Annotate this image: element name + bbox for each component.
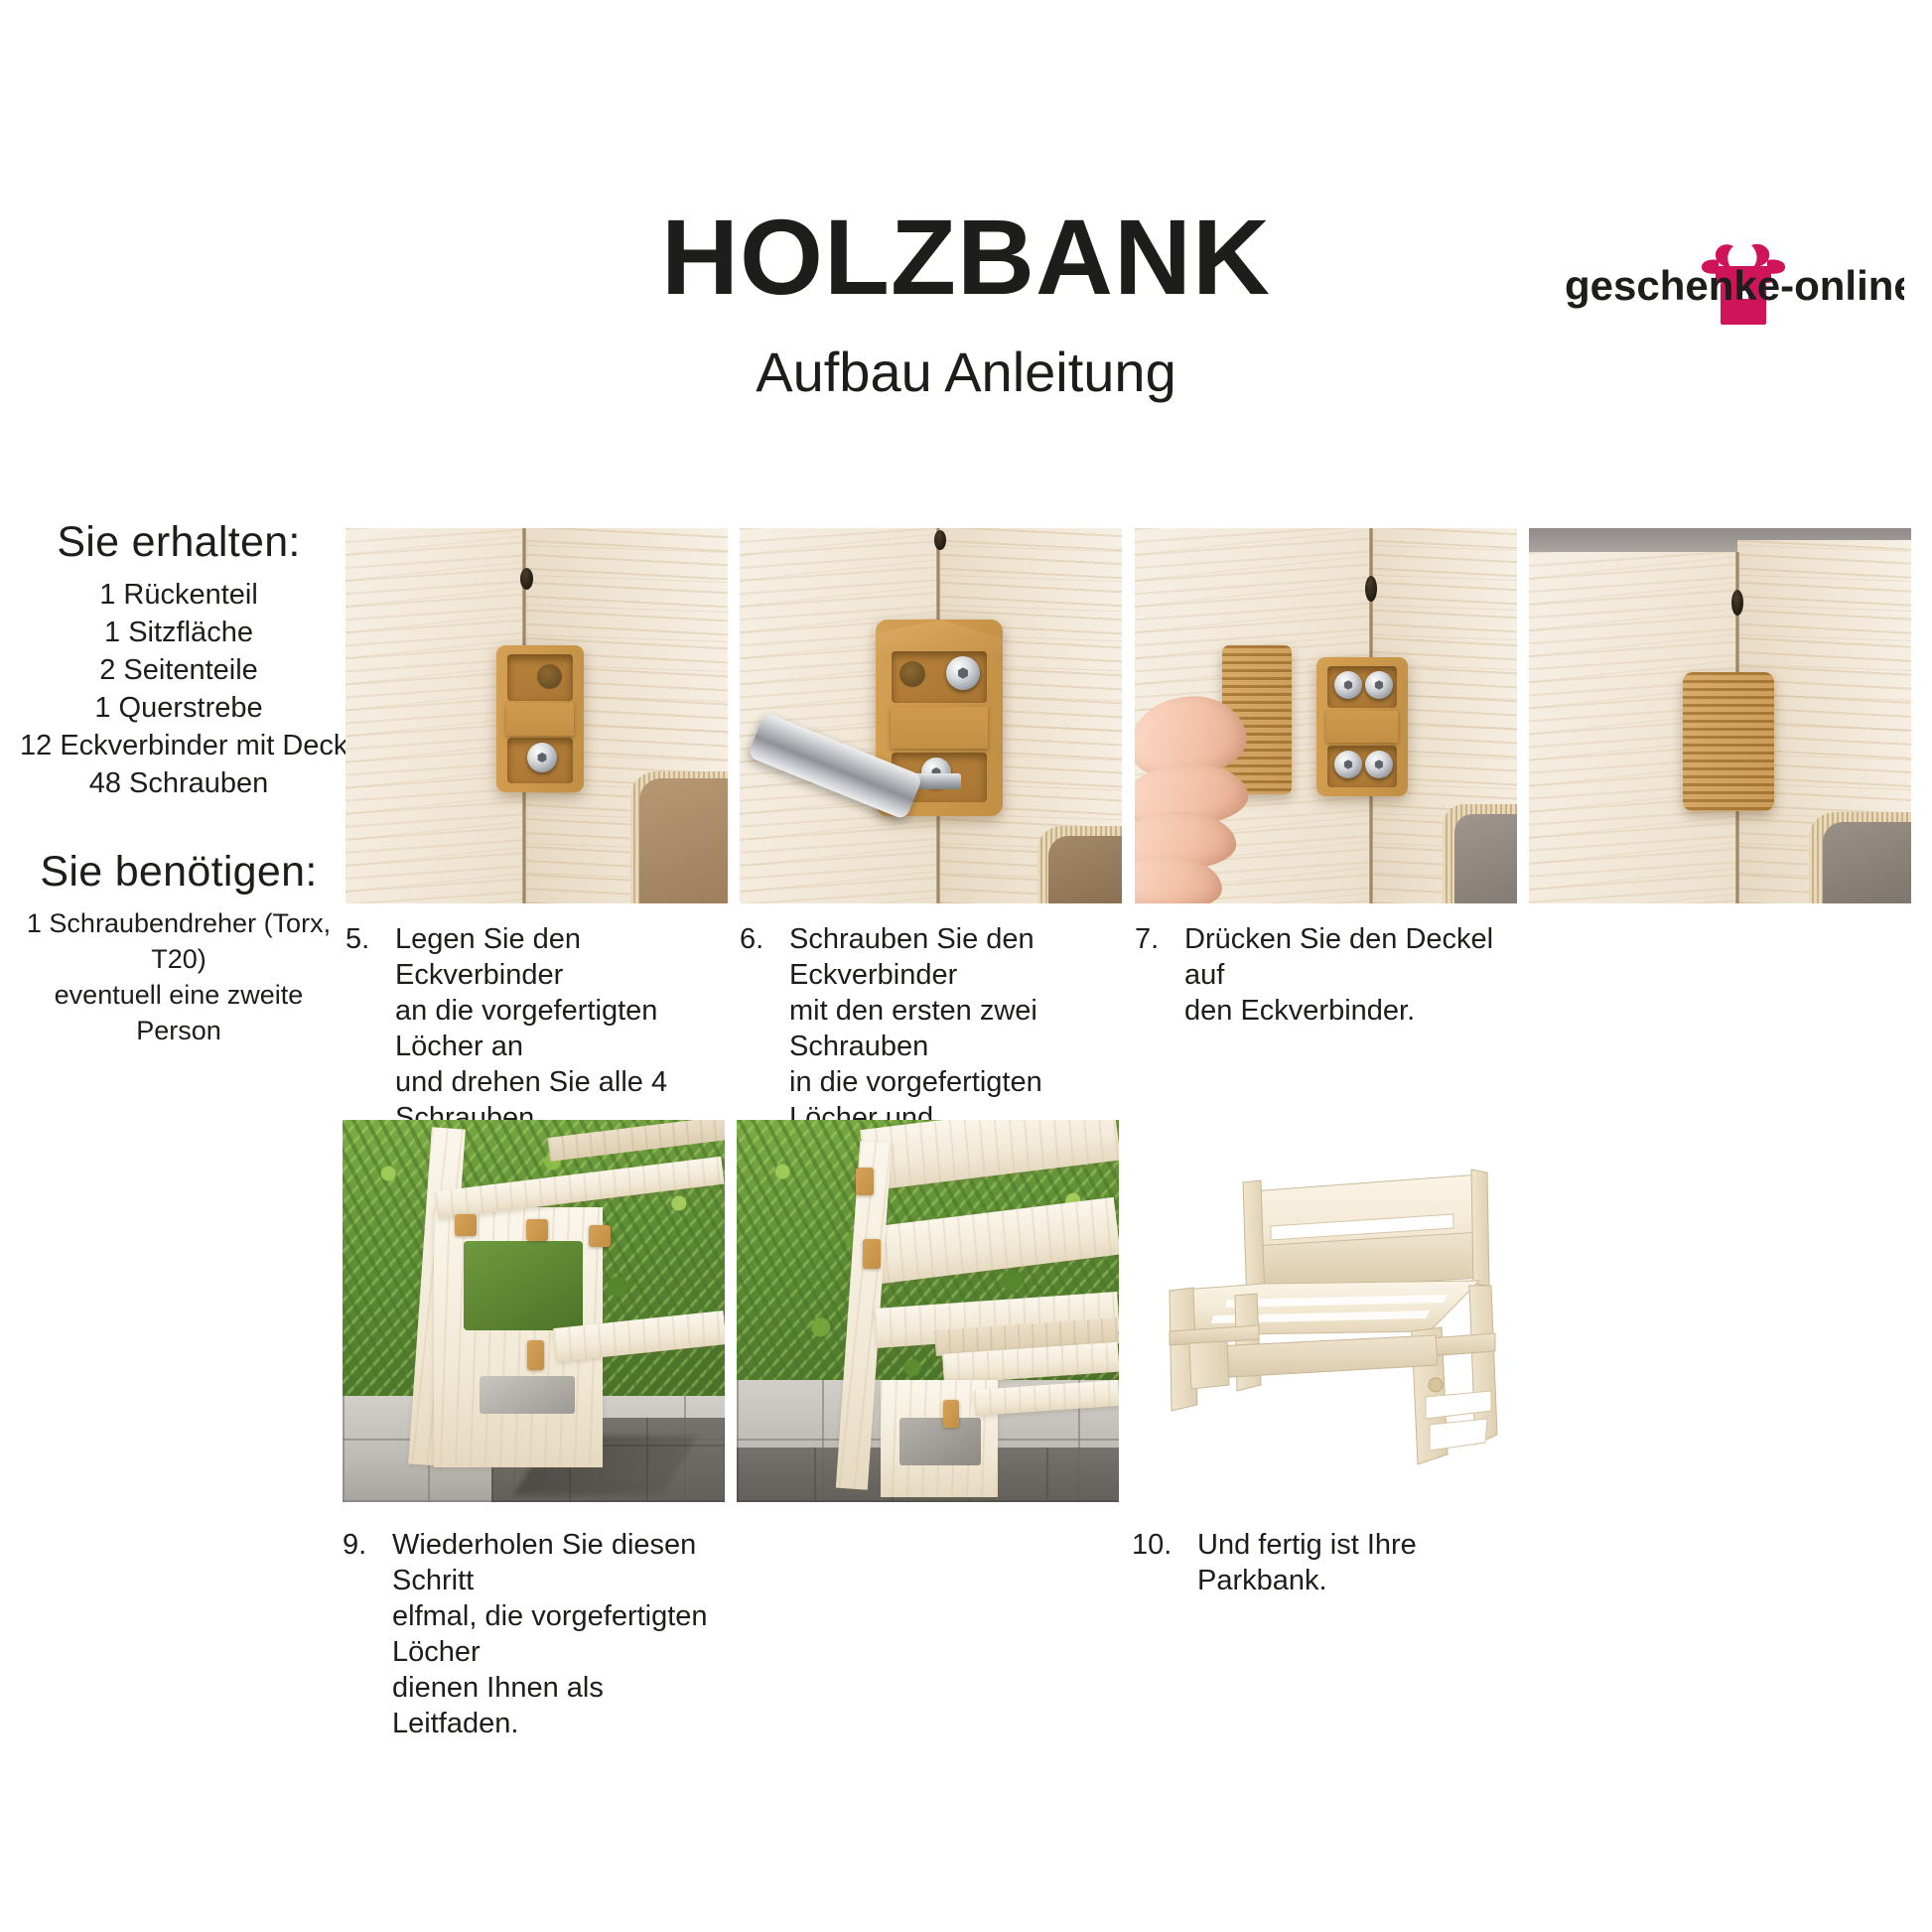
screw-head xyxy=(946,656,980,690)
corner-connector xyxy=(496,645,584,792)
screw-head xyxy=(1365,671,1393,699)
step-line: elfmal, die vorgefertigten Löcher xyxy=(392,1598,738,1670)
step-number: 5. xyxy=(345,921,395,957)
connector-tab xyxy=(526,1219,548,1241)
predrilled-hole xyxy=(934,530,946,550)
step-line: Drücken Sie den Deckel auf xyxy=(1184,921,1515,993)
screw-head xyxy=(527,743,557,772)
photo-step-9 xyxy=(343,1120,725,1502)
finished-bench-illustration xyxy=(1132,1137,1529,1499)
screw-hole xyxy=(899,661,925,687)
required-heading: Sie benötigen: xyxy=(20,846,338,897)
bench-seat xyxy=(1170,1281,1479,1335)
caption-step-10: 10.Und fertig ist Ihre Parkbank. xyxy=(1132,1527,1529,1598)
connector-tab xyxy=(863,1239,881,1269)
step-line: den Eckverbinder. xyxy=(1184,993,1515,1029)
included-item: 1 Querstrebe xyxy=(20,689,338,727)
screw-head xyxy=(1334,751,1362,778)
photo-step-7 xyxy=(1135,528,1517,903)
brand-logo-text: geschenke-online.de xyxy=(1565,262,1904,309)
step-number: 7. xyxy=(1135,921,1184,957)
connector-cover-cap-installed xyxy=(1683,672,1774,811)
connector-tab xyxy=(455,1214,477,1236)
included-item: 1 Rückenteil xyxy=(20,576,338,614)
step-line: Legen Sie den Eckverbinder xyxy=(395,921,719,993)
connector-tab xyxy=(527,1340,544,1370)
connector-bridge xyxy=(891,707,988,749)
included-item: 12 Eckverbinder mit Deckel xyxy=(20,727,338,764)
photo-step-10 xyxy=(1132,1137,1529,1499)
parts-panel: Sie erhalten: 1 Rückenteil 1 Sitzfläche … xyxy=(20,516,338,1048)
photo-step-9b xyxy=(737,1120,1119,1502)
brand-logo[interactable]: geschenke-online.de xyxy=(1557,238,1904,328)
connector-tab xyxy=(943,1400,959,1428)
brace-end-left xyxy=(1189,1341,1229,1389)
connector-tab xyxy=(589,1225,611,1247)
included-heading: Sie erhalten: xyxy=(20,516,338,568)
included-list: 1 Rückenteil 1 Sitzfläche 2 Seitenteile … xyxy=(20,576,338,802)
backrest-upright-right xyxy=(1471,1170,1489,1286)
cutout-shadow xyxy=(1048,836,1122,903)
included-item: 48 Schrauben xyxy=(20,764,338,802)
photo-step-6 xyxy=(740,528,1122,903)
spacer xyxy=(20,802,338,846)
step-line: Und fertig ist Ihre Parkbank. xyxy=(1197,1527,1527,1598)
connector-bridge xyxy=(506,703,574,736)
step-number: 6. xyxy=(740,921,789,957)
photo-step-5 xyxy=(345,528,728,903)
required-item: eventuell eine zweite Person xyxy=(20,977,338,1048)
photo-step-8 xyxy=(1529,528,1911,903)
cutout-shadow xyxy=(1823,822,1911,903)
connector-peg xyxy=(1429,1378,1443,1392)
instruction-sheet: HOLZBANK Aufbau Anleitung geschen xyxy=(0,0,1932,1932)
step-line: mit den ersten zwei Schrauben xyxy=(789,993,1120,1064)
screw-head xyxy=(1334,671,1362,699)
caption-step-7: 7.Drücken Sie den Deckel auf den Eckverb… xyxy=(1135,921,1517,1029)
page-subtitle: Aufbau Anleitung xyxy=(0,343,1932,402)
cutout-shadow xyxy=(1454,814,1517,903)
required-item: 1 Schraubendreher (Torx, T20) xyxy=(20,905,338,977)
included-item: 1 Sitzfläche xyxy=(20,614,338,651)
leg-frame-cutout xyxy=(899,1418,981,1465)
step-line: Schrauben Sie den Eckverbinder xyxy=(789,921,1120,993)
screw-head xyxy=(1365,751,1393,778)
leg-right-cutout-lower xyxy=(1430,1419,1487,1450)
predrilled-hole xyxy=(1365,576,1377,602)
included-item: 2 Seitenteile xyxy=(20,651,338,689)
side-frame-cutout-upper xyxy=(464,1241,583,1330)
step-line: Wiederholen Sie diesen Schritt xyxy=(392,1527,738,1598)
cross-brace xyxy=(1195,1335,1438,1379)
caption-step-9: 9.Wiederholen Sie diesen Schritt elfmal,… xyxy=(343,1527,740,1741)
connector-bridge xyxy=(1326,711,1398,743)
connector-tab xyxy=(856,1168,874,1195)
predrilled-hole xyxy=(520,568,533,590)
corner-connector xyxy=(1316,657,1408,796)
cutout-shadow xyxy=(639,778,728,903)
side-frame-cutout-lower xyxy=(480,1376,575,1414)
step-number: 9. xyxy=(343,1527,392,1563)
header: HOLZBANK Aufbau Anleitung geschen xyxy=(0,0,1932,427)
required-list: 1 Schraubendreher (Torx, T20) eventuell … xyxy=(20,905,338,1048)
step-line: dienen Ihnen als Leitfaden. xyxy=(392,1670,738,1741)
screw-hole xyxy=(537,664,562,689)
predrilled-hole xyxy=(1731,590,1743,616)
step-number: 10. xyxy=(1132,1527,1197,1563)
step-line: an die vorgefertigten Löcher an xyxy=(395,993,719,1064)
connector-cavity-top xyxy=(507,654,573,701)
